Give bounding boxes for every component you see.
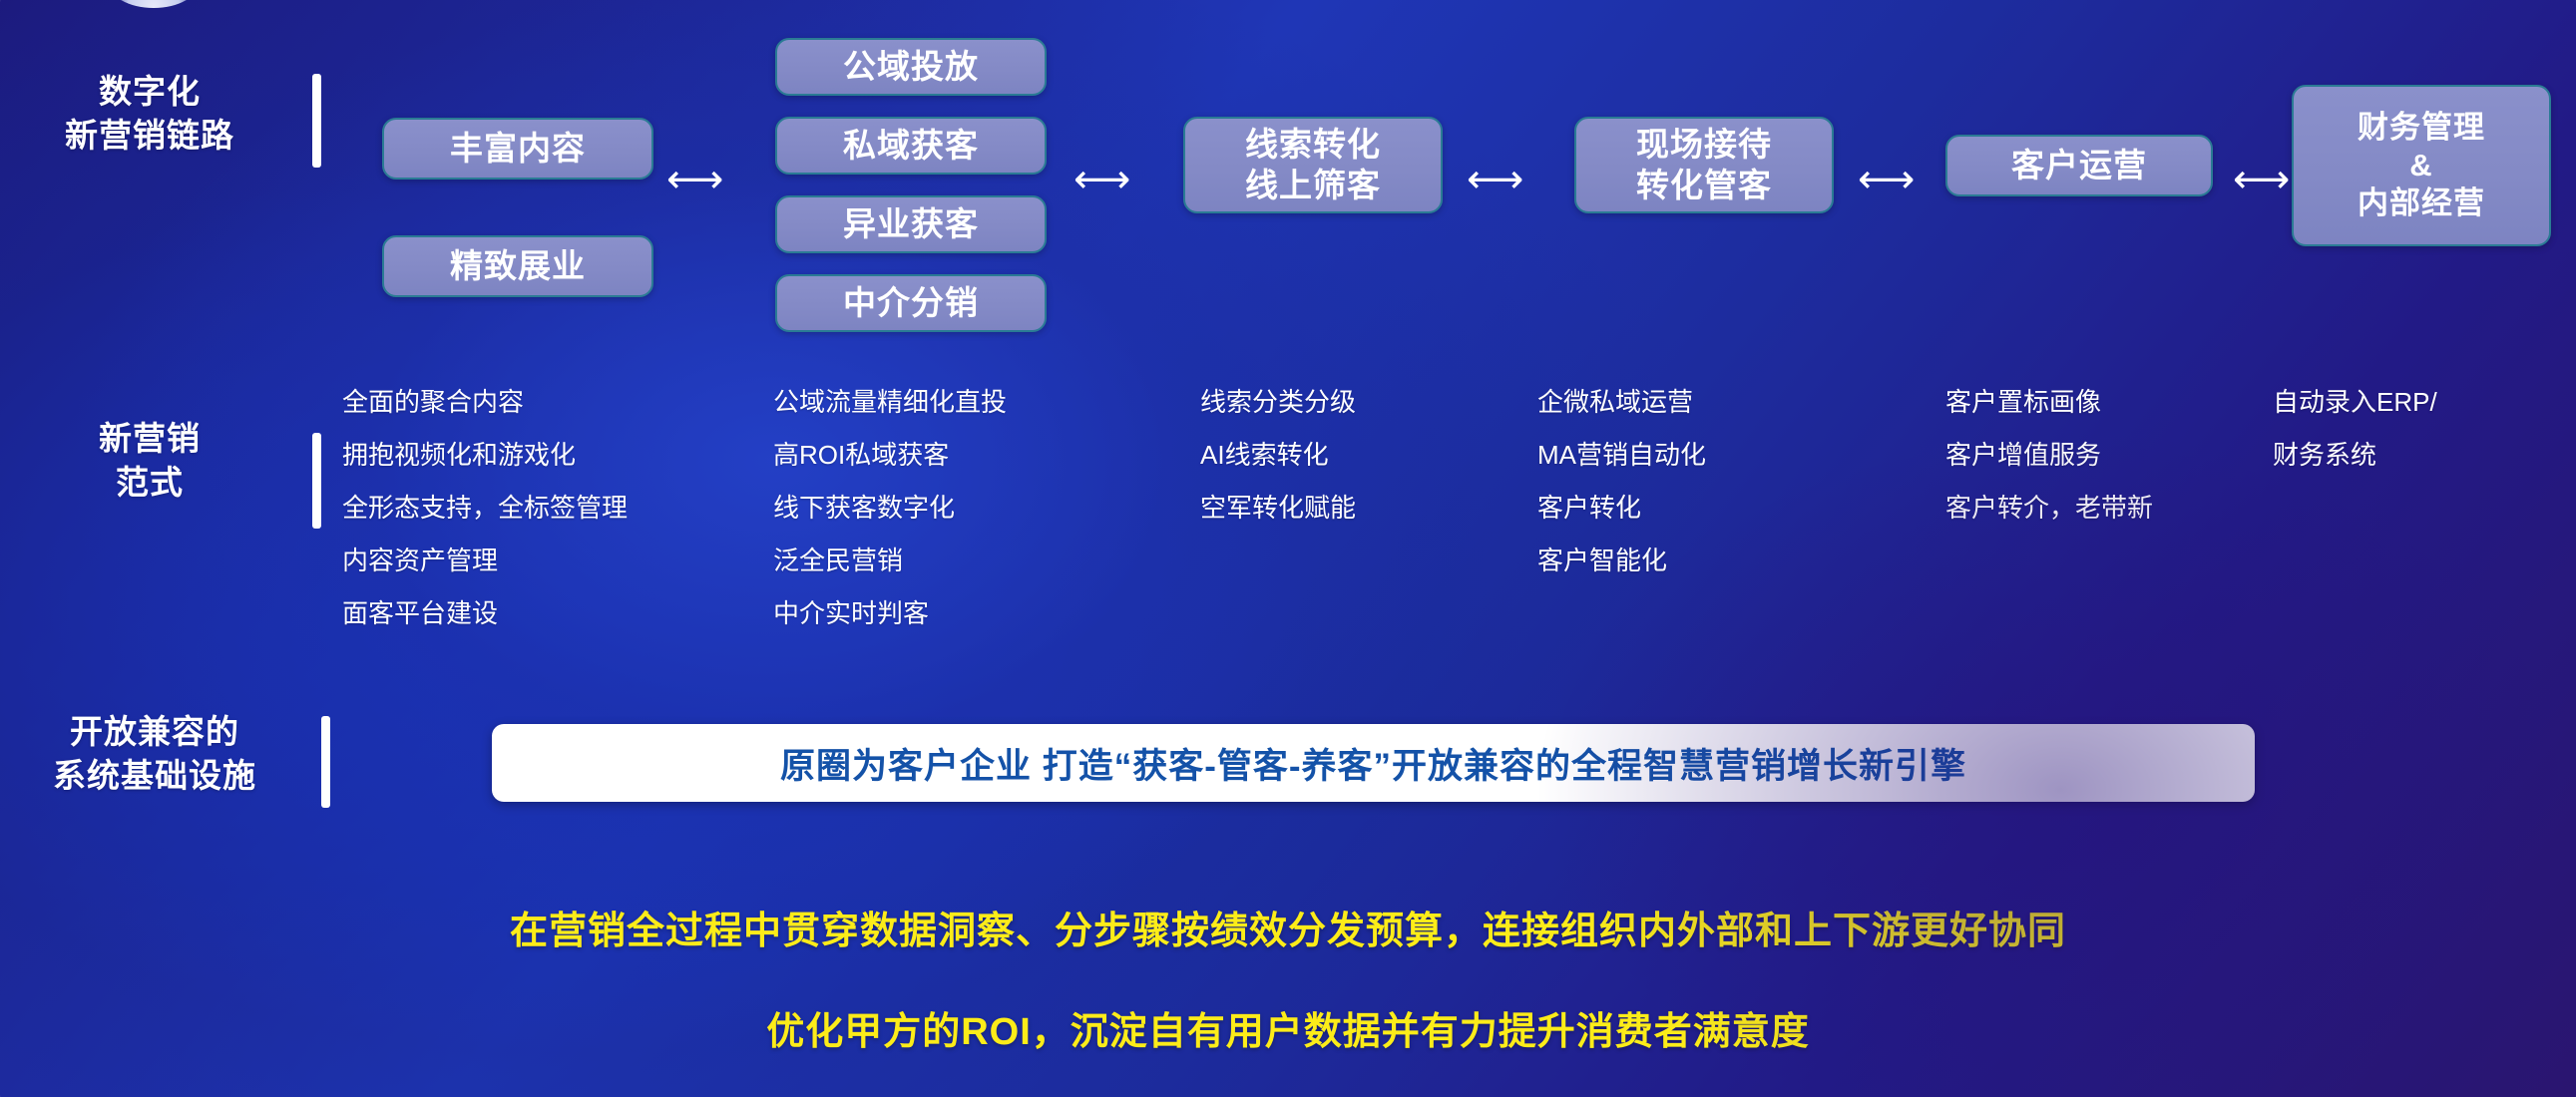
detail-item: 中介实时判客 <box>773 600 1007 626</box>
chain-box-private-domain-acquisition[interactable]: 私域获客 <box>775 117 1047 175</box>
chain-box-customer-operation[interactable]: 客户运营 <box>1945 135 2213 196</box>
row-tick-pattern <box>312 433 321 529</box>
detail-item: 客户增值服务 <box>1945 442 2153 468</box>
content-layer: 数字化 新营销链路 新营销 范式 开放兼容的 系统基础设施 丰富内容 精致展业 … <box>0 0 2576 1097</box>
chain-arrow-1: ⟷ <box>666 160 723 199</box>
row-label-new-marketing-paradigm: 新营销 范式 <box>10 417 289 505</box>
chain-box-onsite-reception[interactable]: 现场接待 转化管客 <box>1574 117 1834 213</box>
detail-item: 客户置标画像 <box>1945 389 2153 415</box>
chain-box-refined-business[interactable]: 精致展业 <box>382 235 653 297</box>
chain-box-rich-content[interactable]: 丰富内容 <box>382 118 653 180</box>
detail-item: 拥抱视频化和游戏化 <box>342 442 628 468</box>
detail-item: 客户转化 <box>1537 495 1706 521</box>
chain-box-lead-conversion[interactable]: 线索转化 线上筛客 <box>1183 117 1443 213</box>
chain-box-public-domain-placement[interactable]: 公域投放 <box>775 38 1047 96</box>
detail-item: 全形态支持，全标签管理 <box>342 495 628 521</box>
detail-column-finance: 自动录入ERP/ 财务系统 <box>2273 389 2437 495</box>
row-tick-chain <box>312 74 321 168</box>
row-label-digital-marketing-chain: 数字化 新营销链路 <box>10 70 289 158</box>
highlight-banner: 原圈为客户企业 打造“获客-管客-养客”开放兼容的全程智慧营销增长新引擎 <box>492 724 2255 802</box>
footer-line-1: 在营销全过程中贯穿数据洞察、分步骤按绩效分发预算，连接组织内外部和上下游更好协同 <box>0 900 2576 954</box>
row-tick-infra <box>321 716 330 808</box>
detail-column-customer-operation: 客户置标画像 客户增值服务 客户转介，老带新 <box>1945 389 2153 548</box>
detail-item: 空军转化赋能 <box>1200 495 1356 521</box>
detail-item: 高ROI私域获客 <box>773 442 1007 468</box>
detail-item: 内容资产管理 <box>342 548 628 573</box>
detail-item: MA营销自动化 <box>1537 442 1706 468</box>
detail-item: 客户转介，老带新 <box>1945 495 2153 521</box>
detail-item: 企微私域运营 <box>1537 389 1706 415</box>
detail-item: 线索分类分级 <box>1200 389 1356 415</box>
detail-column-onsite-reception: 企微私域运营 MA营销自动化 客户转化 客户智能化 <box>1537 389 1706 600</box>
chain-arrow-4: ⟷ <box>1858 160 1915 199</box>
detail-column-lead-conversion: 线索分类分级 AI线索转化 空军转化赋能 <box>1200 389 1356 548</box>
chain-arrow-5: ⟷ <box>2233 160 2290 199</box>
detail-item: 面客平台建设 <box>342 600 628 626</box>
detail-item: 线下获客数字化 <box>773 495 1007 521</box>
detail-item: 全面的聚合内容 <box>342 389 628 415</box>
chain-box-agent-distribution[interactable]: 中介分销 <box>775 274 1047 332</box>
detail-item: 泛全民营销 <box>773 548 1007 573</box>
detail-item: 自动录入ERP/ <box>2273 389 2437 415</box>
chain-box-finance-management[interactable]: 财务管理 & 内部经营 <box>2292 85 2551 246</box>
detail-column-rich-content: 全面的聚合内容 拥抱视频化和游戏化 全形态支持，全标签管理 内容资产管理 面客平… <box>342 389 628 653</box>
chain-box-cross-industry-acquisition[interactable]: 异业获客 <box>775 195 1047 253</box>
detail-item: 公域流量精细化直投 <box>773 389 1007 415</box>
slide-canvas: 数字化 新营销链路 新营销 范式 开放兼容的 系统基础设施 丰富内容 精致展业 … <box>0 0 2576 1097</box>
highlight-banner-text: 原圈为客户企业 打造“获客-管客-养客”开放兼容的全程智慧营销增长新引擎 <box>780 738 1966 789</box>
chain-arrow-2: ⟷ <box>1073 160 1130 199</box>
detail-item: 客户智能化 <box>1537 548 1706 573</box>
detail-item: AI线索转化 <box>1200 442 1356 468</box>
row-label-open-infrastructure: 开放兼容的 系统基础设施 <box>10 710 299 798</box>
detail-column-acquisition: 公域流量精细化直投 高ROI私域获客 线下获客数字化 泛全民营销 中介实时判客 <box>773 389 1007 653</box>
footer-line-2: 优化甲方的ROI，沉淀自有用户数据并有力提升消费者满意度 <box>0 1000 2576 1055</box>
detail-item: 财务系统 <box>2273 442 2437 468</box>
chain-arrow-3: ⟷ <box>1467 160 1523 199</box>
